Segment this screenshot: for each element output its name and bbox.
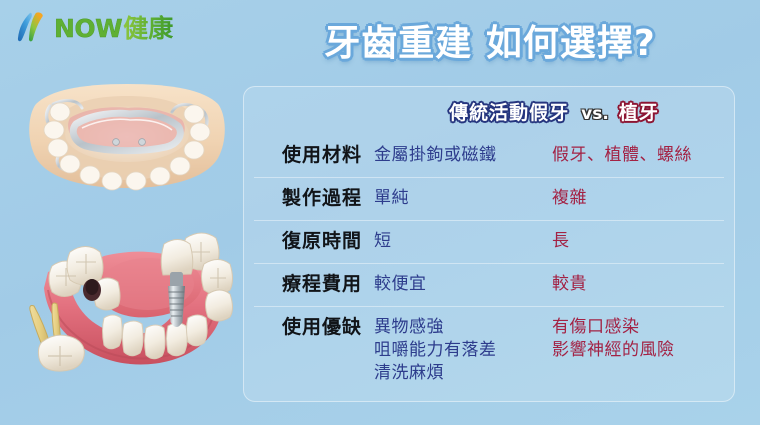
table-row: 療程費用 較便宜 較貴 bbox=[244, 263, 734, 306]
brand-name-zh: 健康 bbox=[123, 9, 173, 45]
comparison-panel: 傳統活動假牙 vs. 植牙 使用材料 金屬掛鉤或磁鐵 假牙、植體、螺絲 製作過程… bbox=[243, 86, 735, 402]
implant-item: 影響神經的風險 bbox=[552, 339, 734, 362]
denture-item: 短 bbox=[374, 230, 552, 253]
comparison-header-row: 傳統活動假牙 vs. 植牙 bbox=[244, 93, 734, 134]
implant-item: 較貴 bbox=[552, 273, 734, 296]
implant-item: 有傷口感染 bbox=[552, 316, 734, 339]
table-row: 使用材料 金屬掛鉤或磁鐵 假牙、植體、螺絲 bbox=[244, 134, 734, 177]
row-denture-value: 金屬掛鉤或磁鐵 bbox=[374, 144, 552, 167]
row-label: 使用材料 bbox=[244, 144, 374, 166]
row-implant-value: 較貴 bbox=[552, 273, 734, 296]
denture-item: 單純 bbox=[374, 187, 552, 210]
row-label: 復原時間 bbox=[244, 230, 374, 252]
row-label: 療程費用 bbox=[244, 273, 374, 295]
table-row: 復原時間 短 長 bbox=[244, 220, 734, 263]
table-row: 製作過程 單純 複雜 bbox=[244, 177, 734, 220]
denture-item: 清洗麻煩 bbox=[374, 362, 552, 385]
row-denture-value: 單純 bbox=[374, 187, 552, 210]
row-denture-value: 短 bbox=[374, 230, 552, 253]
denture-item: 異物感強 bbox=[374, 316, 552, 339]
row-implant-value: 假牙、植體、螺絲 bbox=[552, 144, 734, 167]
person-running-mark-icon bbox=[16, 11, 50, 43]
implant-item: 複雜 bbox=[552, 187, 734, 210]
denture-item: 較便宜 bbox=[374, 273, 552, 296]
brand-name-en: NOW bbox=[54, 14, 122, 43]
row-implant-value: 複雜 bbox=[552, 187, 734, 210]
header-implant-label: 植牙 bbox=[619, 98, 659, 125]
row-implant-value: 有傷口感染 影響神經的風險 bbox=[552, 316, 734, 362]
denture-item: 金屬掛鉤或磁鐵 bbox=[374, 144, 552, 167]
implant-item: 長 bbox=[552, 230, 734, 253]
partial-denture-photo bbox=[20, 82, 235, 192]
denture-item: 咀嚼能力有落差 bbox=[374, 339, 552, 362]
row-label: 製作過程 bbox=[244, 187, 374, 209]
header-vs-label: vs. bbox=[581, 104, 609, 124]
brand-logo: NOW 健康 bbox=[16, 10, 173, 44]
row-denture-value: 較便宜 bbox=[374, 273, 552, 296]
row-denture-value: 異物感強 咀嚼能力有落差 清洗麻煩 bbox=[374, 316, 552, 385]
row-implant-value: 長 bbox=[552, 230, 734, 253]
header-denture-label: 傳統活動假牙 bbox=[449, 98, 569, 125]
page-title: 牙齒重建 如何選擇? bbox=[240, 22, 740, 66]
table-row: 使用優缺 異物感強 咀嚼能力有落差 清洗麻煩 有傷口感染 影響神經的風險 bbox=[244, 306, 734, 399]
row-label: 使用優缺 bbox=[244, 316, 374, 338]
dental-implant-photo bbox=[8, 210, 240, 380]
implant-item: 假牙、植體、螺絲 bbox=[552, 144, 734, 167]
